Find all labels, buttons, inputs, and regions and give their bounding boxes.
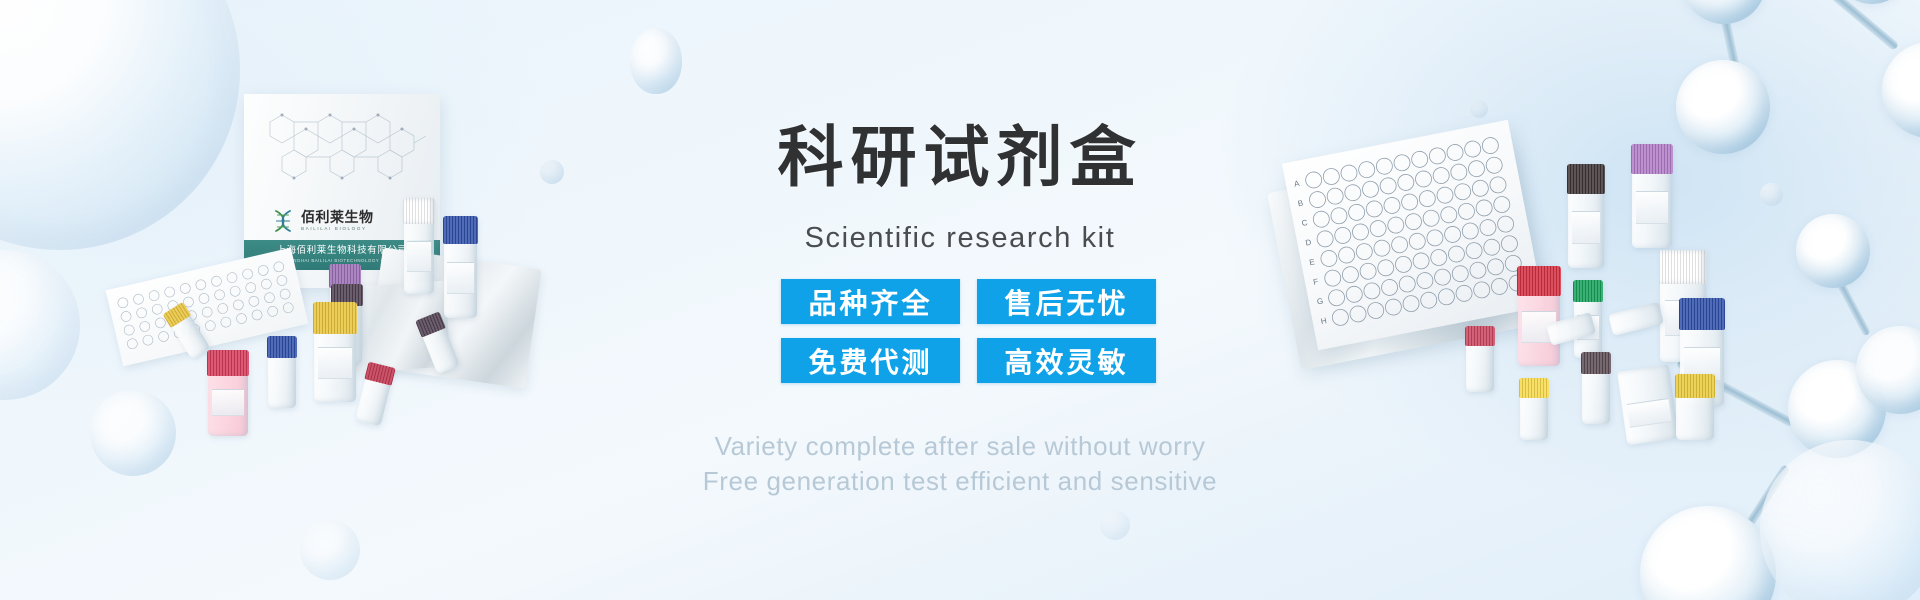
- tagline-line-1: Variety complete after sale without worr…: [0, 429, 1920, 464]
- hero-banner: 佰利莱生物 BAILILAI BIOLOGY 上海佰利莱生物科技有限公司 SHA…: [0, 0, 1920, 600]
- banner-subtitle: Scientific research kit: [0, 222, 1920, 255]
- feature-badge-group: 品种齐全 售后无忧 免费代测 高效灵敏: [781, 279, 1157, 383]
- banner-text-content: 科研试剂盒 Scientific research kit 品种齐全 售后无忧 …: [0, 0, 1920, 600]
- badge-variety-complete[interactable]: 品种齐全: [781, 279, 960, 324]
- tagline-line-2: Free generation test efficient and sensi…: [0, 464, 1920, 499]
- badge-after-sale[interactable]: 售后无忧: [977, 279, 1156, 324]
- banner-tagline: Variety complete after sale without worr…: [0, 429, 1920, 498]
- badge-free-test[interactable]: 免费代测: [781, 338, 960, 383]
- banner-title: 科研试剂盒: [0, 124, 1920, 190]
- badge-efficient-sensitive[interactable]: 高效灵敏: [977, 338, 1156, 383]
